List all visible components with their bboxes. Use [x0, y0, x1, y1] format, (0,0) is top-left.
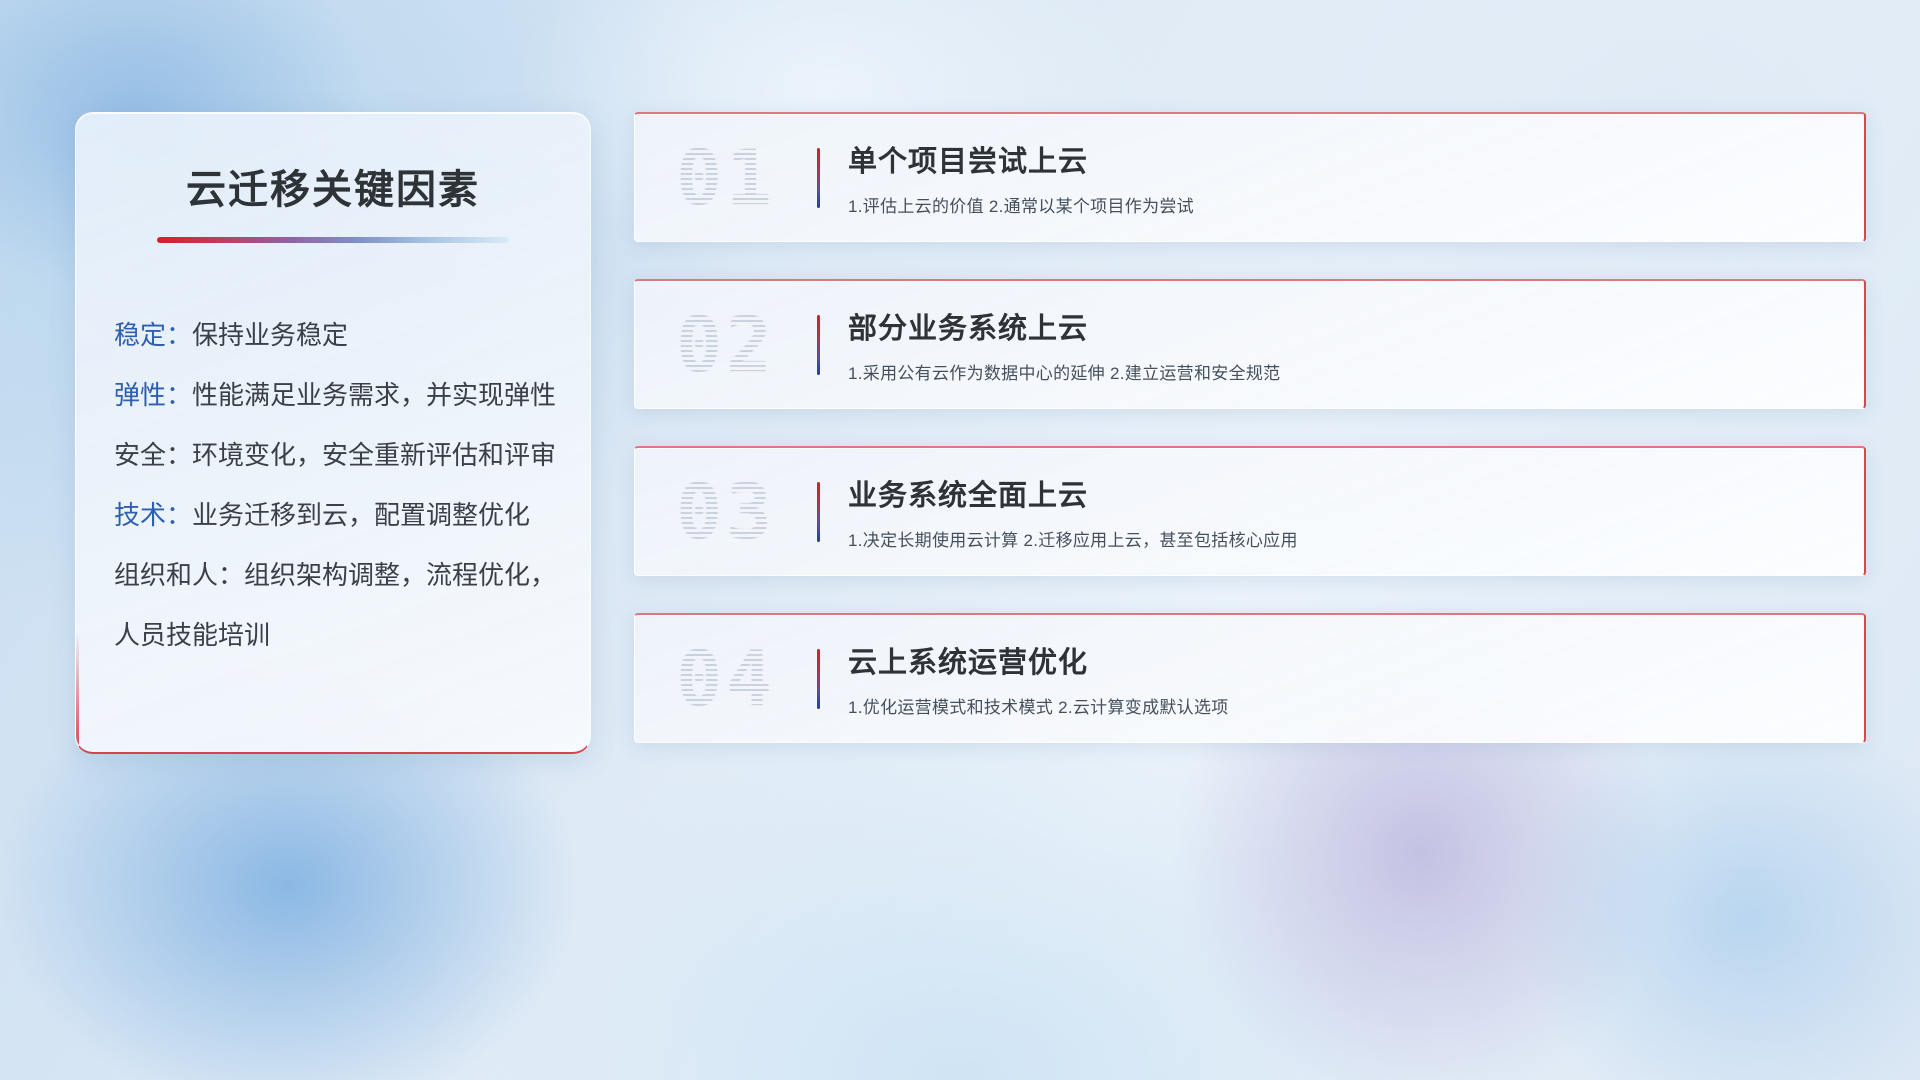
- factor-value: 组织架构调整，流程优化，: [244, 560, 556, 590]
- factor-value: 保持业务稳定: [192, 320, 348, 350]
- stage-title: 单个项目尝试上云: [848, 138, 1194, 180]
- factor-item: 弹性：性能满足业务需求，并实现弹性: [114, 365, 590, 425]
- stage-title: 业务系统全面上云: [848, 472, 1298, 514]
- stage-number: 01: [676, 133, 776, 222]
- stage-number-watermark: 02: [635, 281, 817, 408]
- stage-number: 02: [676, 300, 776, 389]
- stage-card-list: 01 单个项目尝试上云 1.评估上云的价值 2.通常以某个项目作为尝试 02 部…: [634, 112, 1866, 780]
- panel-title: 云迁移关键因素: [76, 157, 590, 215]
- stage-number-watermark: 04: [635, 615, 817, 742]
- factor-key: 弹性：: [114, 380, 192, 410]
- stage-description: 1.优化运营模式和技术模式 2.云计算变成默认选项: [848, 693, 1229, 718]
- factor-key: 稳定：: [114, 320, 192, 350]
- factor-value: 性能满足业务需求，并实现弹性: [192, 380, 556, 410]
- title-underline: [157, 237, 509, 243]
- stage-number: 04: [676, 634, 776, 723]
- factor-item-continuation: 人员技能培训: [114, 605, 590, 665]
- factor-key: 组织和人：: [114, 560, 244, 590]
- factor-key: 技术：: [114, 500, 192, 530]
- stage-number-watermark: 01: [635, 114, 817, 241]
- stage-number: 03: [676, 467, 776, 556]
- key-factors-panel: 云迁移关键因素 稳定：保持业务稳定 弹性：性能满足业务需求，并实现弹性 安全：环…: [75, 112, 591, 754]
- stage-card[interactable]: 01 单个项目尝试上云 1.评估上云的价值 2.通常以某个项目作为尝试: [634, 112, 1866, 242]
- factor-item: 安全：环境变化，安全重新评估和评审: [114, 425, 590, 485]
- factor-value: 环境变化，安全重新评估和评审: [192, 440, 556, 470]
- factor-value: 业务迁移到云，配置调整优化: [192, 500, 530, 530]
- stage-text: 云上系统运营优化 1.优化运营模式和技术模式 2.云计算变成默认选项: [820, 639, 1229, 718]
- factor-list: 稳定：保持业务稳定 弹性：性能满足业务需求，并实现弹性 安全：环境变化，安全重新…: [114, 305, 590, 665]
- stage-description: 1.评估上云的价值 2.通常以某个项目作为尝试: [848, 192, 1194, 217]
- stage-card[interactable]: 02 部分业务系统上云 1.采用公有云作为数据中心的延伸 2.建立运营和安全规范: [634, 279, 1866, 409]
- stage-text: 业务系统全面上云 1.决定长期使用云计算 2.迁移应用上云，甚至包括核心应用: [820, 472, 1298, 551]
- stage-card[interactable]: 03 业务系统全面上云 1.决定长期使用云计算 2.迁移应用上云，甚至包括核心应…: [634, 446, 1866, 576]
- stage-description: 1.决定长期使用云计算 2.迁移应用上云，甚至包括核心应用: [848, 526, 1298, 551]
- stage-text: 单个项目尝试上云 1.评估上云的价值 2.通常以某个项目作为尝试: [820, 138, 1194, 217]
- stage-title: 部分业务系统上云: [848, 305, 1280, 347]
- stage-description: 1.采用公有云作为数据中心的延伸 2.建立运营和安全规范: [848, 359, 1280, 384]
- stage-text: 部分业务系统上云 1.采用公有云作为数据中心的延伸 2.建立运营和安全规范: [820, 305, 1280, 384]
- factor-item: 稳定：保持业务稳定: [114, 305, 590, 365]
- factor-item: 组织和人：组织架构调整，流程优化，: [114, 545, 590, 605]
- stage-card[interactable]: 04 云上系统运营优化 1.优化运营模式和技术模式 2.云计算变成默认选项: [634, 613, 1866, 743]
- factor-value: 人员技能培训: [114, 620, 270, 650]
- factor-item: 技术：业务迁移到云，配置调整优化: [114, 485, 590, 545]
- factor-key: 安全：: [114, 440, 192, 470]
- stage-number-watermark: 03: [635, 448, 817, 575]
- stage-title: 云上系统运营优化: [848, 639, 1229, 681]
